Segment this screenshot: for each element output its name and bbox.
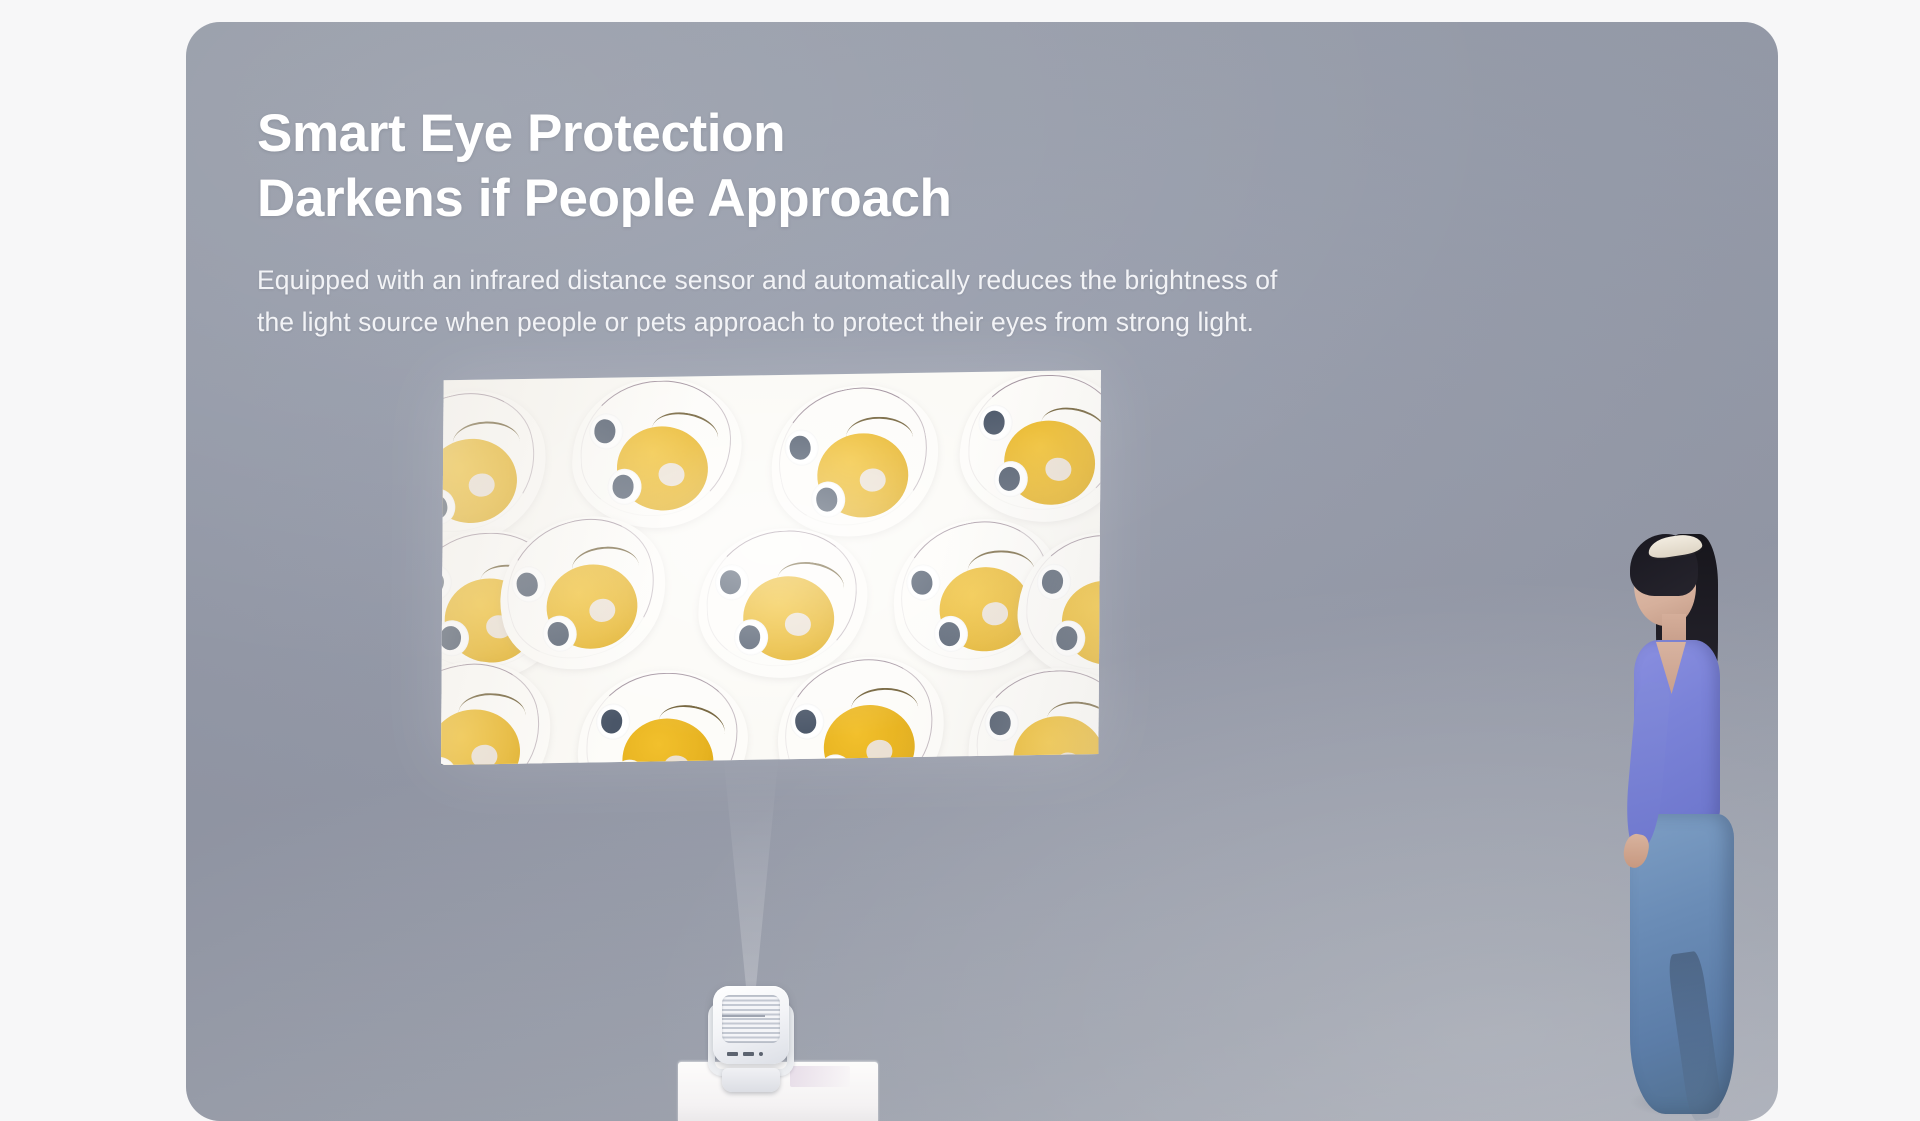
power-indicator-icon <box>759 1052 763 1056</box>
egg-character <box>487 505 678 682</box>
projector-light-beam <box>723 752 779 992</box>
subcopy-line-1: Equipped with an infrared distance senso… <box>257 265 1278 295</box>
projector-device <box>705 984 797 1092</box>
egg-character <box>441 656 556 765</box>
egg-character <box>765 379 945 543</box>
page-title: Smart Eye Protection Darkens if People A… <box>257 102 1457 231</box>
page-root: Smart Eye Protection Darkens if People A… <box>0 0 1920 1121</box>
hdmi-port-icon <box>727 1052 738 1056</box>
woman-walking <box>1604 522 1756 1121</box>
projector-ports <box>727 1051 777 1056</box>
description-text: Equipped with an infrared distance senso… <box>257 260 1417 344</box>
egg-character <box>768 648 953 765</box>
egg-character <box>568 372 746 533</box>
egg-character <box>572 662 755 765</box>
subcopy-line-2: the light source when people or pets app… <box>257 302 1417 344</box>
projector-body <box>713 986 789 1064</box>
projection-surface <box>441 370 1101 765</box>
usb-port-icon <box>743 1052 754 1056</box>
headline-line-1: Smart Eye Protection <box>257 104 785 163</box>
projector-base <box>722 1068 780 1092</box>
egg-character <box>966 665 1101 765</box>
projection-screen <box>441 370 1101 765</box>
ventilation-grille-icon <box>722 995 780 1043</box>
egg-character <box>952 370 1101 532</box>
headline-line-2: Darkens if People Approach <box>257 167 1457 232</box>
feature-card: Smart Eye Protection Darkens if People A… <box>186 22 1778 1121</box>
